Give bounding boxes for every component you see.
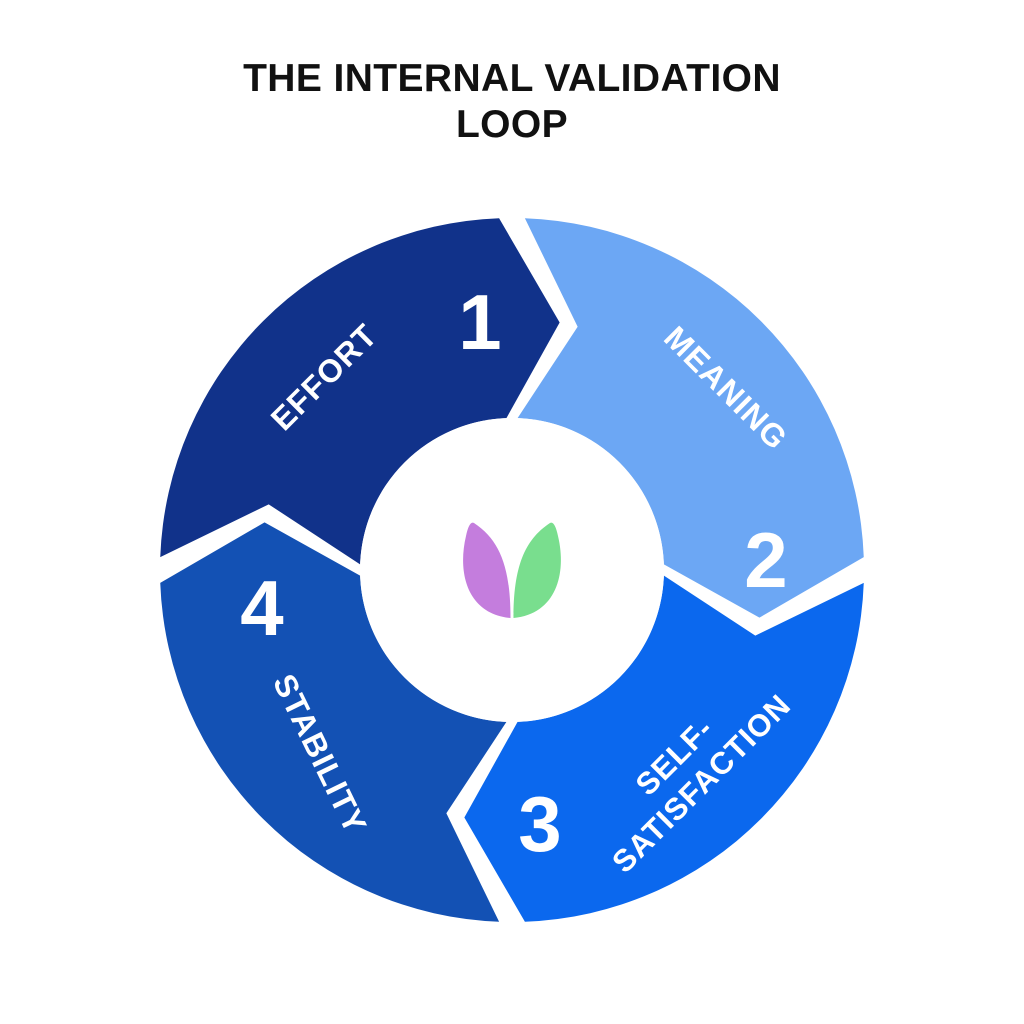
segment-number-1: 1 [458,278,501,366]
center-hub [360,418,664,722]
cycle-svg: 1 2 3 4 EFFORTMEANINGSELF-SATISFACTIONST… [0,0,1024,1024]
segment-number-2: 2 [744,516,787,604]
diagram-canvas: THE INTERNAL VALIDATION LOOP 1 2 3 4 EFF… [0,0,1024,1024]
cycle-diagram: 1 2 3 4 EFFORTMEANINGSELF-SATISFACTIONST… [0,0,1024,1024]
segment-number-4: 4 [240,564,283,652]
segment-number-3: 3 [518,780,561,868]
